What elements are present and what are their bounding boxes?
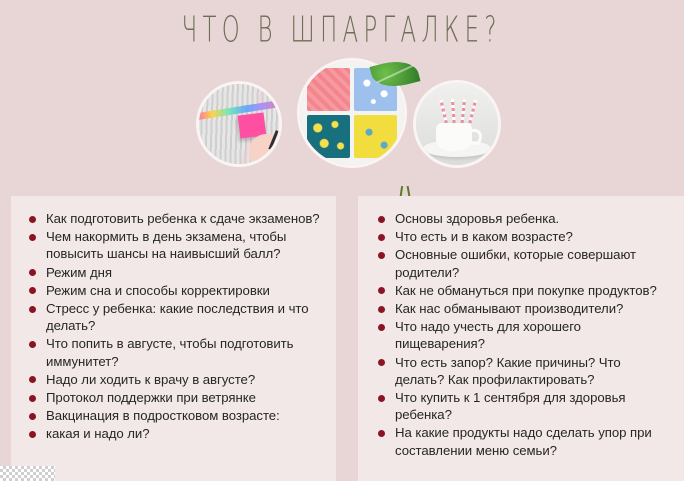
- list-item: Режим сна и способы корректировки: [25, 282, 324, 299]
- list-item: Что надо учесть для хорошего пищеварения…: [372, 318, 672, 352]
- right-topic-list: Основы здоровья ребенка.Что есть и в как…: [372, 210, 672, 459]
- list-item: Основы здоровья ребенка.: [372, 210, 672, 227]
- left-topic-panel: Как подготовить ребенка к сдаче экзамено…: [11, 196, 336, 481]
- cup-shape: [436, 123, 472, 151]
- notebook-sticky-notes-photo: [196, 81, 282, 167]
- list-item: Надо ли ходить к врачу в августе?: [25, 371, 324, 388]
- list-item: Основные ошибки, которые совершают родит…: [372, 246, 672, 280]
- list-item: Стресс у ребенка: какие последствия и чт…: [25, 300, 324, 334]
- list-item: Что есть запор? Какие причины? Что делат…: [372, 354, 672, 388]
- swatch-pink: [307, 68, 350, 111]
- infographic-page: ЧТО В ШПАРГАЛКЕ?: [0, 0, 684, 481]
- title-bar: ЧТО В ШПАРГАЛКЕ?: [0, 8, 684, 54]
- right-topic-panel: Основы здоровья ребенка.Что есть и в как…: [358, 196, 684, 481]
- list-item: Как подготовить ребенка к сдаче экзамено…: [25, 210, 324, 227]
- list-item: какая и надо ли?: [25, 425, 324, 442]
- list-item: Чем накормить в день экзамена, чтобы пов…: [25, 228, 324, 262]
- list-item: На какие продукты надо сделать упор при …: [372, 424, 672, 458]
- list-item: Вакцинация в подростковом возрасте:: [25, 407, 324, 424]
- list-item: Что попить в августе, чтобы подготовить …: [25, 335, 324, 369]
- list-item: Режим дня: [25, 264, 324, 281]
- notebook-photo-content: [199, 84, 279, 164]
- list-item: Протокол поддержки при ветрянке: [25, 389, 324, 406]
- image-strip: [0, 58, 684, 178]
- hand-shape: [249, 134, 282, 167]
- topic-columns: Как подготовить ребенка к сдаче экзамено…: [0, 196, 684, 481]
- list-item: Как не обмануться при покупке продуктов?: [372, 282, 672, 299]
- list-item: Что купить к 1 сентября для здоровья реб…: [372, 389, 672, 423]
- list-item: Что есть и в каком возрасте?: [372, 228, 672, 245]
- swatch-yellow: [354, 115, 397, 158]
- list-item: Как нас обманывают производители?: [372, 300, 672, 317]
- teacup-straws-photo: [413, 80, 501, 168]
- transparency-checker-artifact: [0, 466, 55, 481]
- page-title: ЧТО В ШПАРГАЛКЕ?: [182, 11, 502, 51]
- teacup-photo-content: [416, 83, 498, 165]
- cup-handle-shape: [469, 129, 482, 145]
- swatch-teal: [307, 115, 350, 158]
- left-topic-list: Как подготовить ребенка к сдаче экзамено…: [25, 210, 324, 443]
